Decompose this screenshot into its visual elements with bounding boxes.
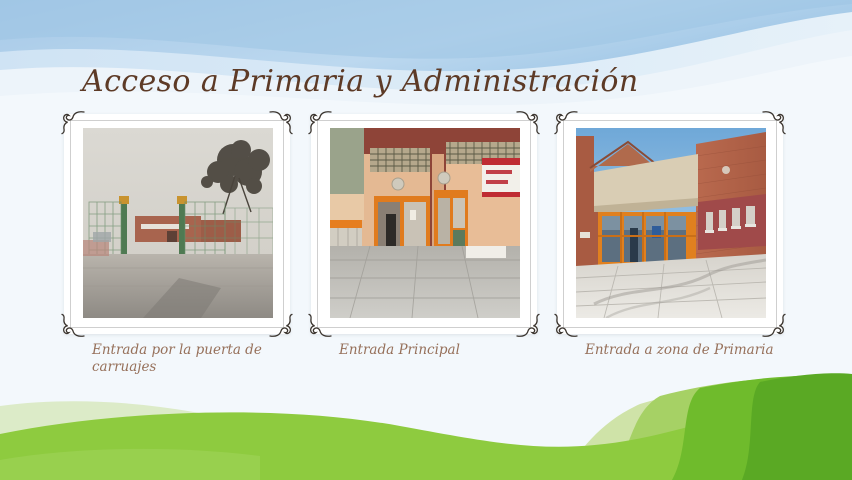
page-title: Acceso a Primaria y Administración (82, 64, 639, 99)
photo-card[interactable]: Entrada por la puerta de carruajes (64, 114, 290, 384)
photo-frame (557, 114, 783, 334)
primary-zone-photo-icon (576, 128, 766, 318)
photo-image-primary-zone (576, 128, 766, 318)
photo-card[interactable]: Entrada a zona de Primaria (557, 114, 783, 384)
photo-image-gate (83, 128, 273, 318)
photo-caption: Entrada Principal (339, 342, 549, 359)
photo-gallery: Entrada por la puerta de carruajes (0, 114, 852, 384)
photo-frame (311, 114, 537, 334)
photo-caption: Entrada por la puerta de carruajes (92, 342, 302, 376)
photo-card[interactable]: Entrada Principal (311, 114, 537, 384)
gate-photo-icon (83, 128, 273, 318)
main-entrance-photo-icon (330, 128, 520, 318)
photo-image-main-entrance (330, 128, 520, 318)
photo-frame (64, 114, 290, 334)
photo-caption: Entrada a zona de Primaria (585, 342, 795, 359)
